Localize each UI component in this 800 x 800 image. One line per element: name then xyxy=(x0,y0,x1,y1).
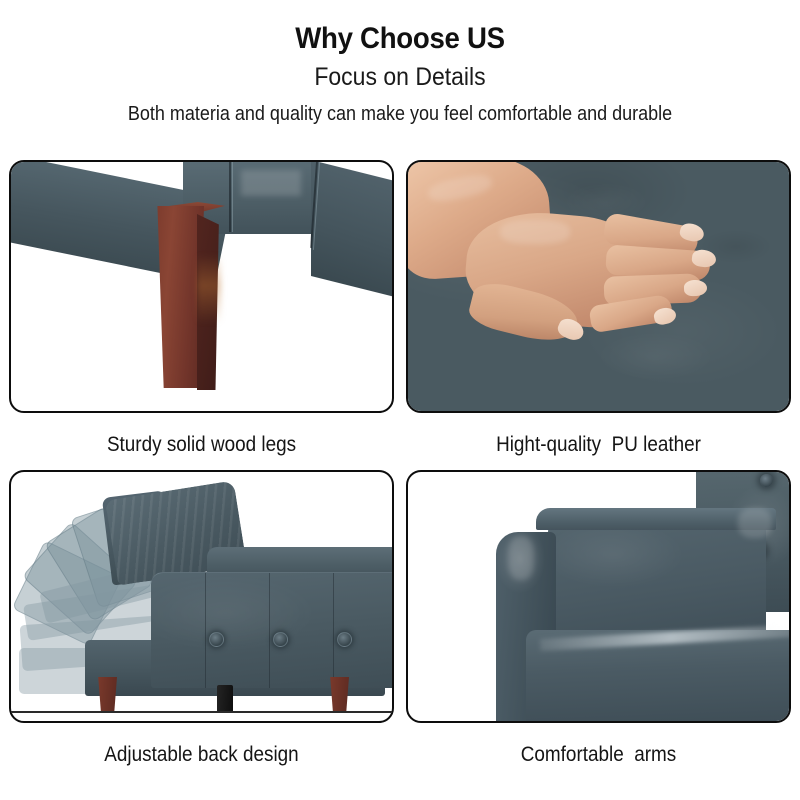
feature-image-pu-leather xyxy=(406,160,791,413)
backrest-highlight xyxy=(738,508,772,538)
feature-caption-wood-legs: Sturdy solid wood legs xyxy=(28,433,375,456)
sofa-side-panel xyxy=(151,572,394,688)
floor-line xyxy=(11,711,392,713)
tuft-seam xyxy=(205,573,206,688)
feature-caption-pu-leather: Hight-quality PU leather xyxy=(425,433,772,456)
feature-caption-comfortable-arms: Comfortable arms xyxy=(425,743,772,766)
feature-image-comfortable-arms xyxy=(406,470,791,723)
sofa-arm-inner-face xyxy=(548,516,766,644)
feature-card-comfortable-arms: Comfortable arms xyxy=(406,470,791,770)
arm-highlight xyxy=(508,536,534,580)
feature-image-adjustable-back xyxy=(9,470,394,723)
upholstery-highlight xyxy=(241,170,301,196)
tufting-button xyxy=(337,632,352,647)
tufting-button xyxy=(209,632,224,647)
tufting-button xyxy=(760,474,773,487)
page-subtitle: Focus on Details xyxy=(32,64,768,92)
tuft-seam xyxy=(333,573,334,688)
feature-card-wood-legs: Sturdy solid wood legs xyxy=(9,160,394,460)
sofa-apron-right xyxy=(311,160,394,302)
page-title: Why Choose US xyxy=(32,22,768,55)
feature-card-pu-leather: Hight-quality PU leather xyxy=(406,160,791,460)
page-description: Both materia and quality can make you fe… xyxy=(40,103,760,126)
feature-grid: Sturdy solid wood legs Hight-quality PU … xyxy=(0,160,800,800)
tufting-button xyxy=(273,632,288,647)
page-header: Why Choose US Focus on Details Both mate… xyxy=(0,0,800,126)
tuft-seam xyxy=(269,573,270,688)
center-support-leg xyxy=(217,685,233,713)
wood-leg-sheen xyxy=(197,254,221,324)
feature-caption-adjustable-back: Adjustable back design xyxy=(28,743,375,766)
upholstery-seam-highlight xyxy=(232,162,233,232)
hand-highlight xyxy=(500,220,570,244)
feature-card-adjustable-back: Adjustable back design xyxy=(9,470,394,770)
upholstery-seam xyxy=(229,162,231,232)
feature-image-wood-legs xyxy=(9,160,394,413)
wood-leg-left xyxy=(97,677,117,713)
wood-leg-right xyxy=(329,677,349,713)
